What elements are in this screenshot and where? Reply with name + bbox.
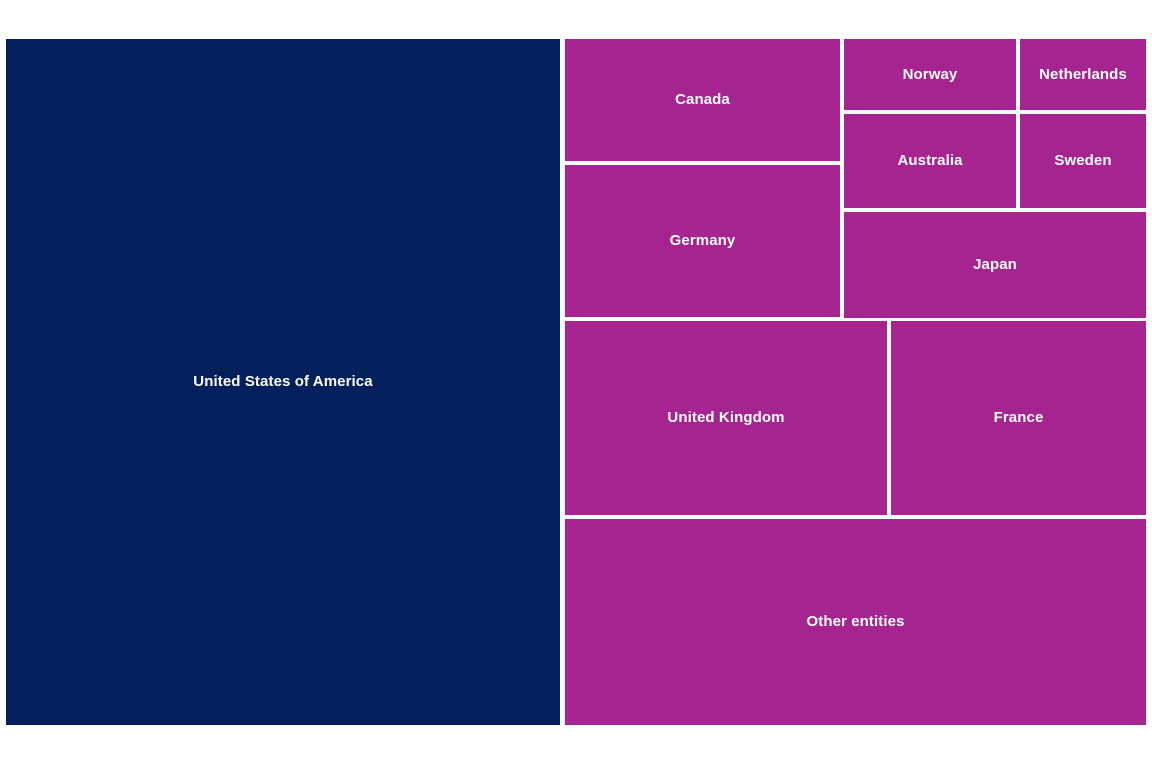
treemap-tile[interactable]: Canada xyxy=(565,39,840,161)
treemap-tile[interactable]: United Kingdom xyxy=(565,321,887,515)
treemap-chart: United States of AmericaCanadaNorwayNeth… xyxy=(0,0,1152,768)
treemap-tile-label: Japan xyxy=(973,256,1017,273)
treemap-tile-label: Germany xyxy=(670,232,736,249)
treemap-tile-label: Sweden xyxy=(1054,152,1111,169)
treemap-tile[interactable]: United States of America xyxy=(6,39,560,725)
treemap-tile-label: Australia xyxy=(897,152,962,169)
treemap-tile-label: Canada xyxy=(675,91,730,108)
treemap-tile-label: United Kingdom xyxy=(667,409,784,426)
treemap-tile[interactable]: Australia xyxy=(844,114,1016,208)
treemap-tile-label: Norway xyxy=(903,66,958,83)
treemap-tile[interactable]: France xyxy=(891,321,1146,515)
treemap-tile[interactable]: Japan xyxy=(844,212,1146,318)
treemap-tile[interactable]: Norway xyxy=(844,39,1016,110)
treemap-tile-label: Netherlands xyxy=(1039,66,1127,83)
treemap-tile[interactable]: Other entities xyxy=(565,519,1146,725)
treemap-tile[interactable]: Sweden xyxy=(1020,114,1146,208)
treemap-plot-area: United States of AmericaCanadaNorwayNeth… xyxy=(0,0,1152,768)
treemap-tile-label: Other entities xyxy=(806,613,904,630)
treemap-tile-label: United States of America xyxy=(193,373,372,390)
treemap-tile-label: France xyxy=(994,409,1044,426)
treemap-tile[interactable]: Germany xyxy=(565,165,840,317)
treemap-tile[interactable]: Netherlands xyxy=(1020,39,1146,110)
